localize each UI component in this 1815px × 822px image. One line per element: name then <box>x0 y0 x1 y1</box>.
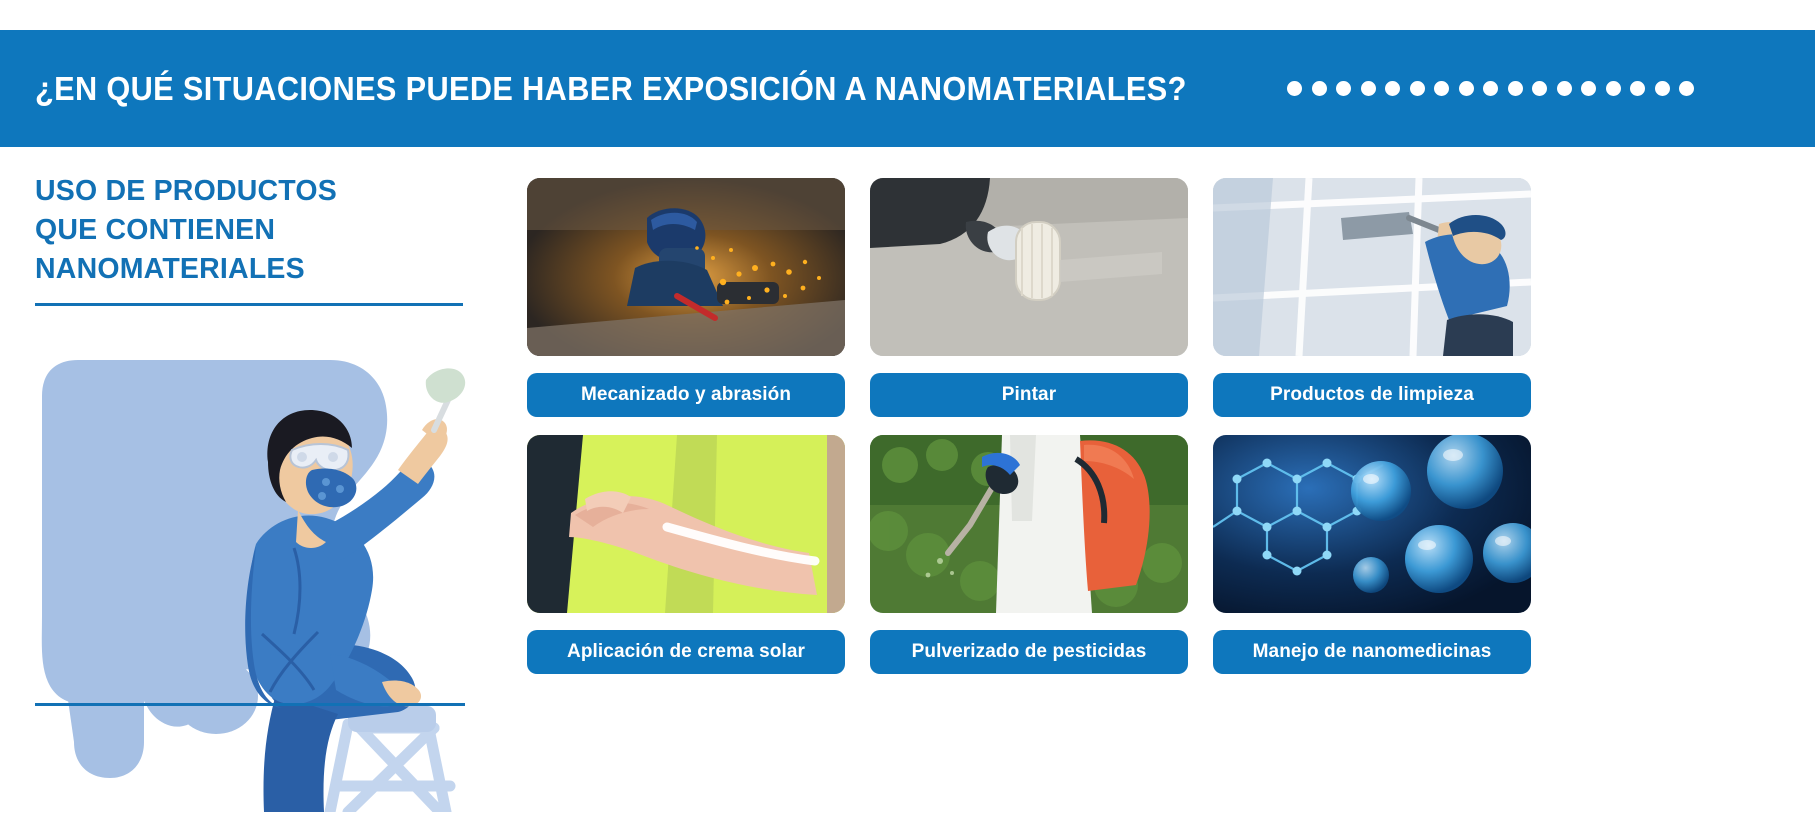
grinding-sparks-photo <box>527 178 845 356</box>
nanoparticles-molecules-photo <box>1213 435 1531 613</box>
header-dot <box>1679 81 1694 96</box>
header-dot-decoration <box>1287 81 1694 96</box>
header-dot <box>1606 81 1621 96</box>
situation-card-label[interactable]: Aplicación de crema solar <box>527 630 845 674</box>
header-dot <box>1655 81 1670 96</box>
page-title: ¿EN QUÉ SITUACIONES PUEDE HABER EXPOSICI… <box>35 70 1187 108</box>
situation-card-grid: Mecanizado y abrasiónPintarProductos de … <box>527 178 1530 674</box>
header-bar: ¿EN QUÉ SITUACIONES PUEDE HABER EXPOSICI… <box>0 30 1815 147</box>
header-dot <box>1483 81 1498 96</box>
situation-card-label[interactable]: Pintar <box>870 373 1188 417</box>
situation-card-label[interactable]: Pulverizado de pesticidas <box>870 630 1188 674</box>
situation-card-label[interactable]: Productos de limpieza <box>1213 373 1531 417</box>
header-dot <box>1361 81 1376 96</box>
situation-card-label[interactable]: Manejo de nanomedicinas <box>1213 630 1531 674</box>
header-dot <box>1630 81 1645 96</box>
sidebar-heading: USO DE PRODUCTOS QUE CONTIENEN NANOMATER… <box>35 172 465 289</box>
header-dot <box>1312 81 1327 96</box>
situation-card-label[interactable]: Mecanizado y abrasión <box>527 373 845 417</box>
situation-card[interactable]: Manejo de nanomedicinas <box>1213 435 1531 674</box>
worker-painting-on-ladder-illustration <box>30 334 470 812</box>
header-dot <box>1532 81 1547 96</box>
pesticide-spraying-photo <box>870 435 1188 613</box>
sidebar-panel: USO DE PRODUCTOS QUE CONTIENEN NANOMATER… <box>35 172 465 812</box>
header-inner: ¿EN QUÉ SITUACIONES PUEDE HABER EXPOSICI… <box>0 70 1815 108</box>
header-dot <box>1508 81 1523 96</box>
header-dot <box>1287 81 1302 96</box>
header-dot <box>1581 81 1596 96</box>
header-dot <box>1557 81 1572 96</box>
paint-roller-wall-photo <box>870 178 1188 356</box>
bottom-divider <box>35 703 465 706</box>
header-dot <box>1459 81 1474 96</box>
situation-card[interactable]: Pulverizado de pesticidas <box>870 435 1188 674</box>
header-dot <box>1434 81 1449 96</box>
situation-card[interactable]: Productos de limpieza <box>1213 178 1531 417</box>
situation-card[interactable]: Aplicación de crema solar <box>527 435 845 674</box>
sidebar-divider <box>35 303 463 306</box>
window-cleaning-worker-photo <box>1213 178 1531 356</box>
sunscreen-on-arm-photo <box>527 435 845 613</box>
header-dot <box>1336 81 1351 96</box>
situation-card[interactable]: Pintar <box>870 178 1188 417</box>
situation-card[interactable]: Mecanizado y abrasión <box>527 178 845 417</box>
header-dot <box>1385 81 1400 96</box>
header-dot <box>1410 81 1425 96</box>
